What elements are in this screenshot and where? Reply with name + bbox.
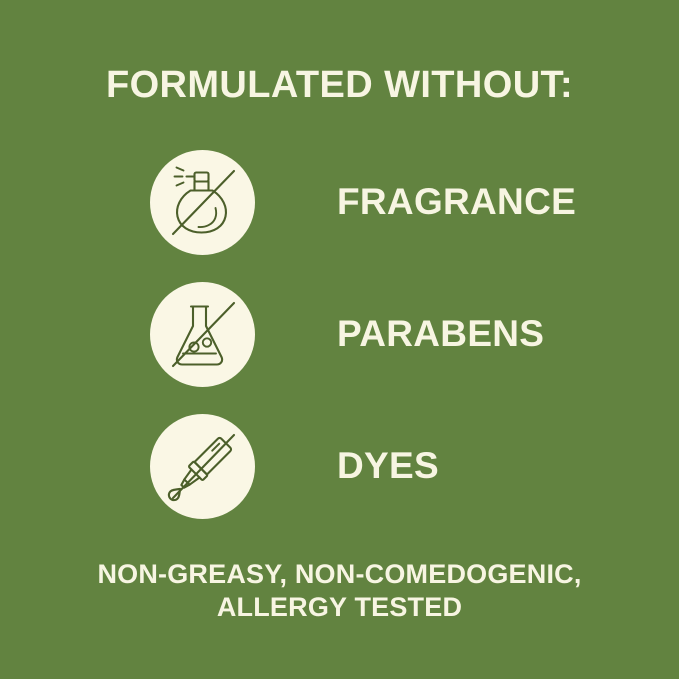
list-item: FRAGRANCE xyxy=(0,150,679,282)
list-item-label: PARABENS xyxy=(337,312,544,356)
footer-line-1: NON-GREASY, NON-COMEDOGENIC, xyxy=(0,558,679,591)
formulated-without-panel: FORMULATED WITHOUT: xyxy=(0,0,679,679)
no-fragrance-bottle-icon xyxy=(150,150,255,255)
footer-line-2: ALLERGY TESTED xyxy=(0,591,679,624)
no-chemical-flask-icon xyxy=(150,282,255,387)
list-item: PARABENS xyxy=(0,282,679,414)
list-item-label: DYES xyxy=(337,444,439,488)
footer-claims: NON-GREASY, NON-COMEDOGENIC, ALLERGY TES… xyxy=(0,558,679,624)
page-title: FORMULATED WITHOUT: xyxy=(0,64,679,106)
list-item-label: FRAGRANCE xyxy=(337,180,576,224)
no-dropper-icon xyxy=(150,414,255,519)
list-item: DYES xyxy=(0,414,679,546)
claims-list: FRAGRANCE PARABENS xyxy=(0,150,679,546)
